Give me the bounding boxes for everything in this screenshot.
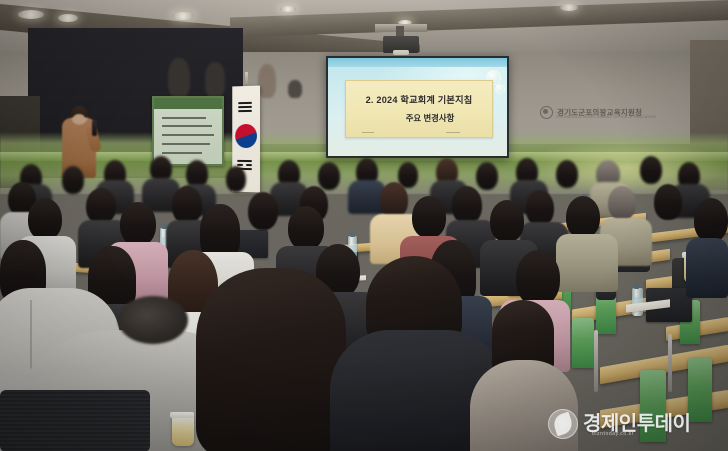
attendee-head xyxy=(172,186,202,224)
slide-bubble-decor xyxy=(495,84,505,94)
attendee-head xyxy=(248,192,278,230)
taeguk-symbol-icon xyxy=(235,124,257,148)
slide-text-box: 2. 2024 학교회계 기본지침 주요 변경사항 xyxy=(345,80,493,138)
agency-emblem-icon xyxy=(540,106,553,119)
attendee-head xyxy=(318,162,340,190)
attendee-torso xyxy=(556,234,618,292)
poster-text-line xyxy=(162,143,210,145)
fur-collar xyxy=(118,296,188,344)
presenter-face xyxy=(73,114,85,124)
wall-decor-figure xyxy=(288,80,302,98)
poster-text-line xyxy=(162,152,202,154)
slide-top-band xyxy=(328,58,507,67)
attendee-head xyxy=(452,186,482,224)
attendee-head xyxy=(200,204,240,258)
attendee-head xyxy=(640,156,662,184)
trigram-mark xyxy=(237,160,252,162)
slide-footer-rule xyxy=(446,132,460,133)
attendee-head xyxy=(288,206,324,250)
attendee-head xyxy=(526,190,554,226)
attendee-head xyxy=(490,200,524,242)
trigram-mark xyxy=(238,102,252,104)
projection-screen: 2. 2024 학교회계 기본지침 주요 변경사항 xyxy=(328,58,507,156)
attendee-head xyxy=(516,250,560,306)
foreground-attendee-hair xyxy=(196,268,346,451)
iced-drink-cup-icon xyxy=(172,416,194,446)
attendee-head xyxy=(694,198,728,242)
ceiling-light-icon xyxy=(560,4,578,11)
attendee-head xyxy=(120,202,156,246)
ceiling-light-icon xyxy=(280,6,296,12)
attendee-head xyxy=(608,186,636,220)
slide-footer-rule xyxy=(362,132,374,133)
projector-lens xyxy=(393,50,409,55)
slide-title-line-2: 주요 변경사항 xyxy=(346,112,492,124)
watermark-subtitle: bizntoday.co.kr xyxy=(592,431,634,437)
poster-header-bar xyxy=(154,98,222,109)
poster-text-line xyxy=(162,134,214,136)
ceiling-light-icon xyxy=(58,14,78,22)
attendee-torso xyxy=(686,238,728,298)
attendee-head xyxy=(28,198,62,240)
attendee-head xyxy=(62,166,84,194)
poster-text-line xyxy=(162,117,206,119)
chair-frame xyxy=(668,334,672,392)
projection-screen-frame: 2. 2024 학교회계 기본지침 주요 변경사항 xyxy=(326,56,509,158)
chair-back xyxy=(640,370,666,442)
chair-frame xyxy=(594,330,598,392)
wall-decor-figure xyxy=(205,62,225,98)
chair-back xyxy=(688,358,712,422)
attendee-head xyxy=(86,188,116,224)
attendee-head xyxy=(566,196,600,238)
foreground-attendee-coat xyxy=(470,360,578,451)
ceiling-light-icon xyxy=(18,10,44,19)
attendee-head xyxy=(654,184,682,220)
trigram-mark xyxy=(246,164,252,166)
attendee-head xyxy=(476,162,498,190)
trigram-mark xyxy=(238,110,252,112)
wall-decor-figure xyxy=(168,58,190,98)
attendee-head xyxy=(226,166,246,192)
agency-logo: 경기도군포의왕교육지원청 GYEONGGIDO GUNPO UIWANG OFF… xyxy=(540,102,658,122)
slide-title-line-1: 2. 2024 학교회계 기본지침 xyxy=(346,92,492,106)
seminar-room-photo: 경기도군포의왕교육지원청 GYEONGGIDO GUNPO UIWANG OFF… xyxy=(0,0,728,451)
chair-back xyxy=(572,318,594,368)
agency-subtitle: GYEONGGIDO GUNPO UIWANG OFFICE OF EDUCAT… xyxy=(556,115,656,119)
poster-text-line xyxy=(162,125,212,127)
chair-back-dark xyxy=(0,390,150,451)
ceiling-light-icon xyxy=(172,12,194,20)
attendee-head xyxy=(380,182,408,218)
trigram-mark xyxy=(238,106,252,108)
attendee-head xyxy=(556,160,578,188)
wall-decor-figure xyxy=(258,64,276,98)
attendee-head xyxy=(412,196,446,238)
microphone-icon xyxy=(92,120,97,136)
cup-lid xyxy=(170,412,194,418)
